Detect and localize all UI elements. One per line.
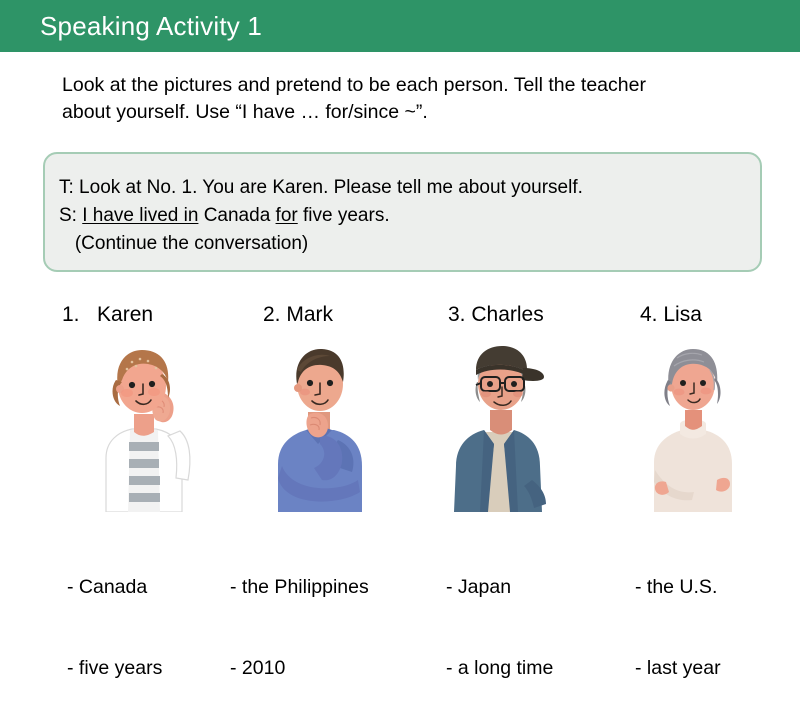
answers-mark: - the Philippines - 2010 [230, 520, 369, 709]
person-label-mark: 2. Mark [263, 301, 333, 328]
dialogue-lines: T: Look at No. 1. You are Karen. Please … [59, 174, 583, 258]
page-title: Speaking Activity 1 [40, 9, 262, 43]
answers-charles: - Japan - a long time [446, 520, 553, 709]
person-label-lisa: 4. Lisa [640, 301, 702, 328]
older-woman-arms-crossed-illustration [622, 340, 762, 512]
instructions-line-1: Look at the pictures and pretend to be e… [62, 72, 752, 99]
woman-hand-on-cheek-illustration [72, 340, 212, 512]
dialogue-underline-for: for [276, 205, 298, 226]
dialogue-underline-have-lived-in: I have lived in [82, 205, 198, 226]
dialogue-teacher-line: T: Look at No. 1. You are Karen. Please … [59, 174, 583, 202]
person-label-karen: 1. Karen [62, 301, 153, 328]
answers-karen: - Canada - five years [67, 520, 162, 709]
answer-line: - Japan [446, 574, 553, 601]
instructions-text: Look at the pictures and pretend to be e… [62, 72, 752, 126]
dialogue-example-box: T: Look at No. 1. You are Karen. Please … [43, 152, 762, 272]
older-man-cap-glasses-illustration [428, 340, 568, 512]
dialogue-student-prefix: S: [59, 205, 82, 226]
dialogue-student-line: S: I have lived in Canada for five years… [59, 202, 583, 230]
dialogue-student-tail: five years. [298, 205, 390, 226]
answer-line: - Canada [67, 574, 162, 601]
answer-line: - the Philippines [230, 574, 369, 601]
answer-line: - five years [67, 655, 162, 682]
dialogue-note-line: (Continue the conversation) [59, 230, 583, 258]
instructions-line-2: about yourself. Use “I have … for/since … [62, 99, 752, 126]
dialogue-student-mid: Canada [198, 205, 275, 226]
person-label-charles: 3. Charles [448, 301, 544, 328]
answers-lisa: - the U.S. - last year [635, 520, 721, 709]
answer-line: - the U.S. [635, 574, 721, 601]
answer-line: - 2010 [230, 655, 369, 682]
answer-line: - last year [635, 655, 721, 682]
man-hand-on-chin-illustration [248, 340, 388, 512]
answer-line: - a long time [446, 655, 553, 682]
